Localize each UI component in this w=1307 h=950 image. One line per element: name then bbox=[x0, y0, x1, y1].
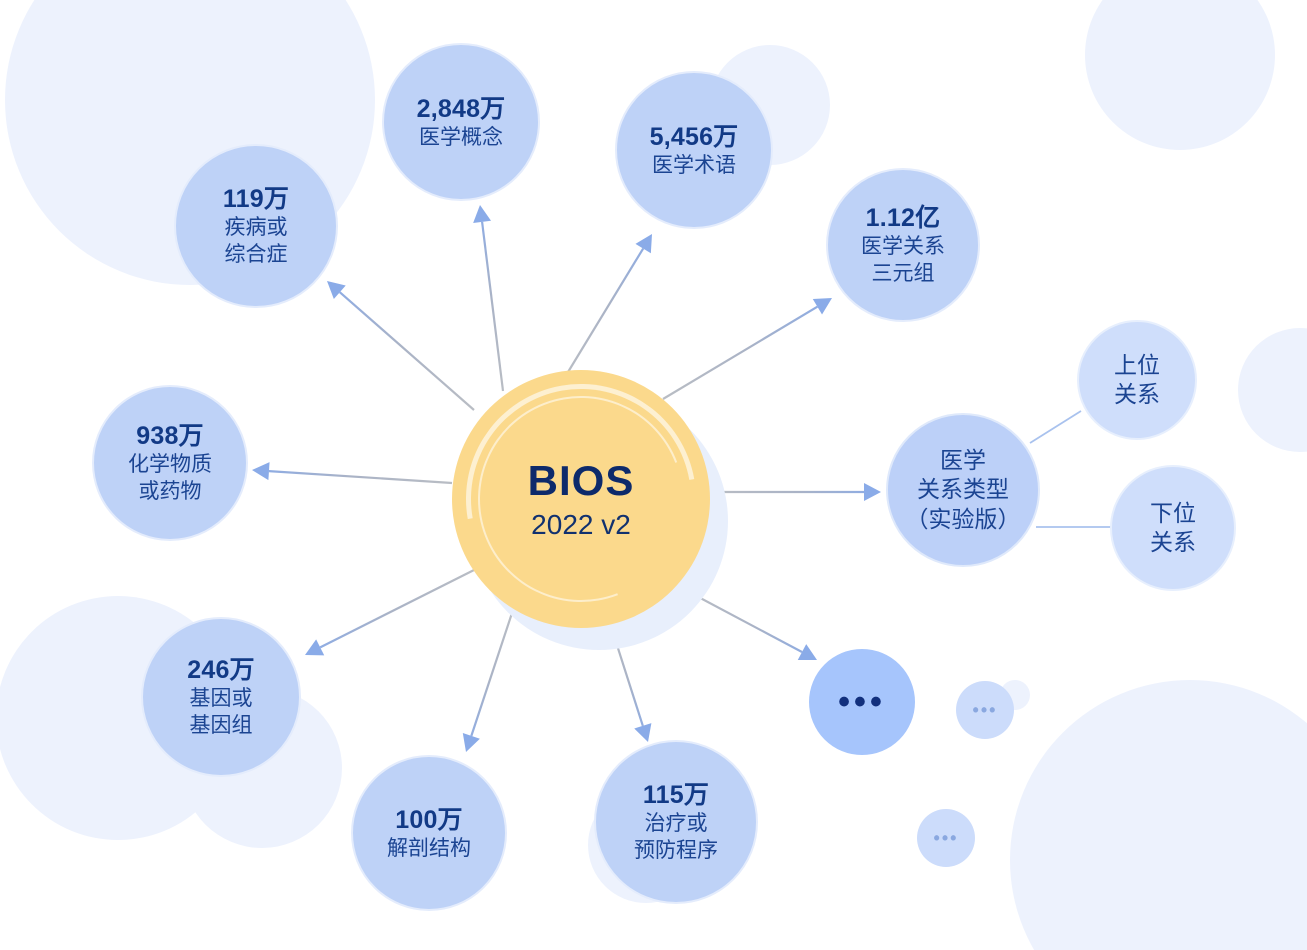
node-more-tiny[interactable]: ••• bbox=[917, 809, 975, 867]
node-value: 2,848万 bbox=[417, 93, 506, 125]
node-label-line2: 预防程序 bbox=[634, 838, 718, 865]
center-node-subtitle: 2022 v2 bbox=[531, 509, 631, 541]
node-reltype[interactable]: 医学关系类型（实验版） bbox=[886, 413, 1040, 567]
node-concepts[interactable]: 2,848万医学概念 bbox=[382, 43, 540, 201]
node-disease[interactable]: 119万疾病或综合症 bbox=[174, 144, 338, 308]
node-anatomy[interactable]: 100万解剖结构 bbox=[351, 755, 507, 911]
node-triples[interactable]: 1.12亿医学关系三元组 bbox=[826, 168, 980, 322]
diagram-canvas: BIOS 2022 v2 2,848万医学概念5,456万医学术语119万疾病或… bbox=[0, 0, 1307, 950]
node-label-line1: 医学 bbox=[940, 446, 986, 475]
node-hypernym[interactable]: 上位关系 bbox=[1077, 320, 1197, 440]
center-node-title: BIOS bbox=[528, 457, 635, 505]
center-node-bios[interactable]: BIOS 2022 v2 bbox=[452, 370, 710, 628]
node-value: 938万 bbox=[136, 420, 204, 452]
node-label-line1: 上位 bbox=[1114, 351, 1160, 380]
node-label-line3: （实验版） bbox=[906, 505, 1021, 534]
node-label-line2: 关系 bbox=[1114, 380, 1160, 409]
node-label-line2: 综合症 bbox=[225, 242, 288, 269]
node-chemical[interactable]: 938万化学物质或药物 bbox=[92, 385, 248, 541]
node-gene[interactable]: 246万基因或基因组 bbox=[141, 617, 301, 777]
node-label-line1: 基因或 bbox=[190, 686, 253, 713]
ellipsis-icon: ••• bbox=[838, 694, 886, 711]
node-label-line1: 解剖结构 bbox=[387, 836, 471, 863]
node-value: 1.12亿 bbox=[866, 202, 941, 234]
ellipsis-icon: ••• bbox=[934, 834, 959, 843]
node-more-main[interactable]: ••• bbox=[809, 649, 915, 755]
node-value: 246万 bbox=[187, 654, 255, 686]
node-label-line1: 医学概念 bbox=[419, 125, 503, 152]
node-value: 100万 bbox=[395, 804, 463, 836]
node-value: 119万 bbox=[223, 183, 289, 215]
node-label-line1: 化学物质 bbox=[128, 452, 212, 479]
node-value: 5,456万 bbox=[650, 121, 739, 153]
node-terms[interactable]: 5,456万医学术语 bbox=[615, 71, 773, 229]
node-layer: BIOS 2022 v2 2,848万医学概念5,456万医学术语119万疾病或… bbox=[0, 0, 1307, 950]
node-label-line2: 三元组 bbox=[872, 261, 935, 288]
node-label-line2: 基因组 bbox=[190, 713, 253, 740]
node-procedure[interactable]: 115万治疗或预防程序 bbox=[594, 740, 758, 904]
node-label-line2: 或药物 bbox=[139, 479, 202, 506]
node-label-line1: 医学关系 bbox=[861, 234, 945, 261]
node-more-small[interactable]: ••• bbox=[956, 681, 1014, 739]
node-label-line2: 关系类型 bbox=[917, 475, 1009, 504]
ellipsis-icon: ••• bbox=[973, 706, 998, 715]
node-label-line1: 治疗或 bbox=[645, 811, 708, 838]
node-label-line1: 下位 bbox=[1150, 499, 1196, 528]
node-hyponym[interactable]: 下位关系 bbox=[1110, 465, 1236, 591]
node-label-line2: 关系 bbox=[1150, 528, 1196, 557]
node-label-line1: 医学术语 bbox=[652, 153, 736, 180]
node-label-line1: 疾病或 bbox=[225, 215, 288, 242]
node-value: 115万 bbox=[643, 779, 709, 811]
